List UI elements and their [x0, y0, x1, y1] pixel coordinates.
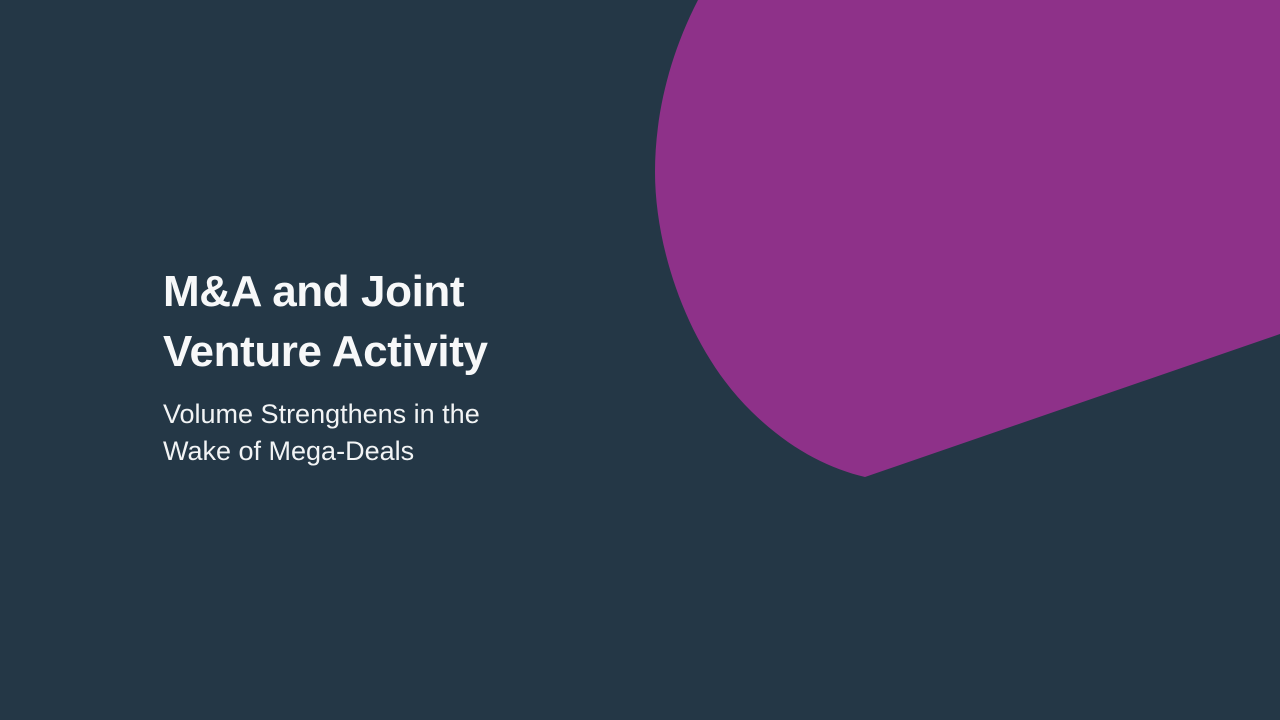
page-subtitle: Volume Strengthens in the Wake of Mega-D…	[163, 382, 633, 470]
page-title: M&A and Joint Venture Activity	[163, 262, 633, 382]
title-text-block: M&A and Joint Venture Activity Volume St…	[163, 262, 633, 470]
title-slide: M&A and Joint Venture Activity Volume St…	[0, 0, 1280, 720]
purple-arc-wedge-shape	[655, 0, 1280, 477]
